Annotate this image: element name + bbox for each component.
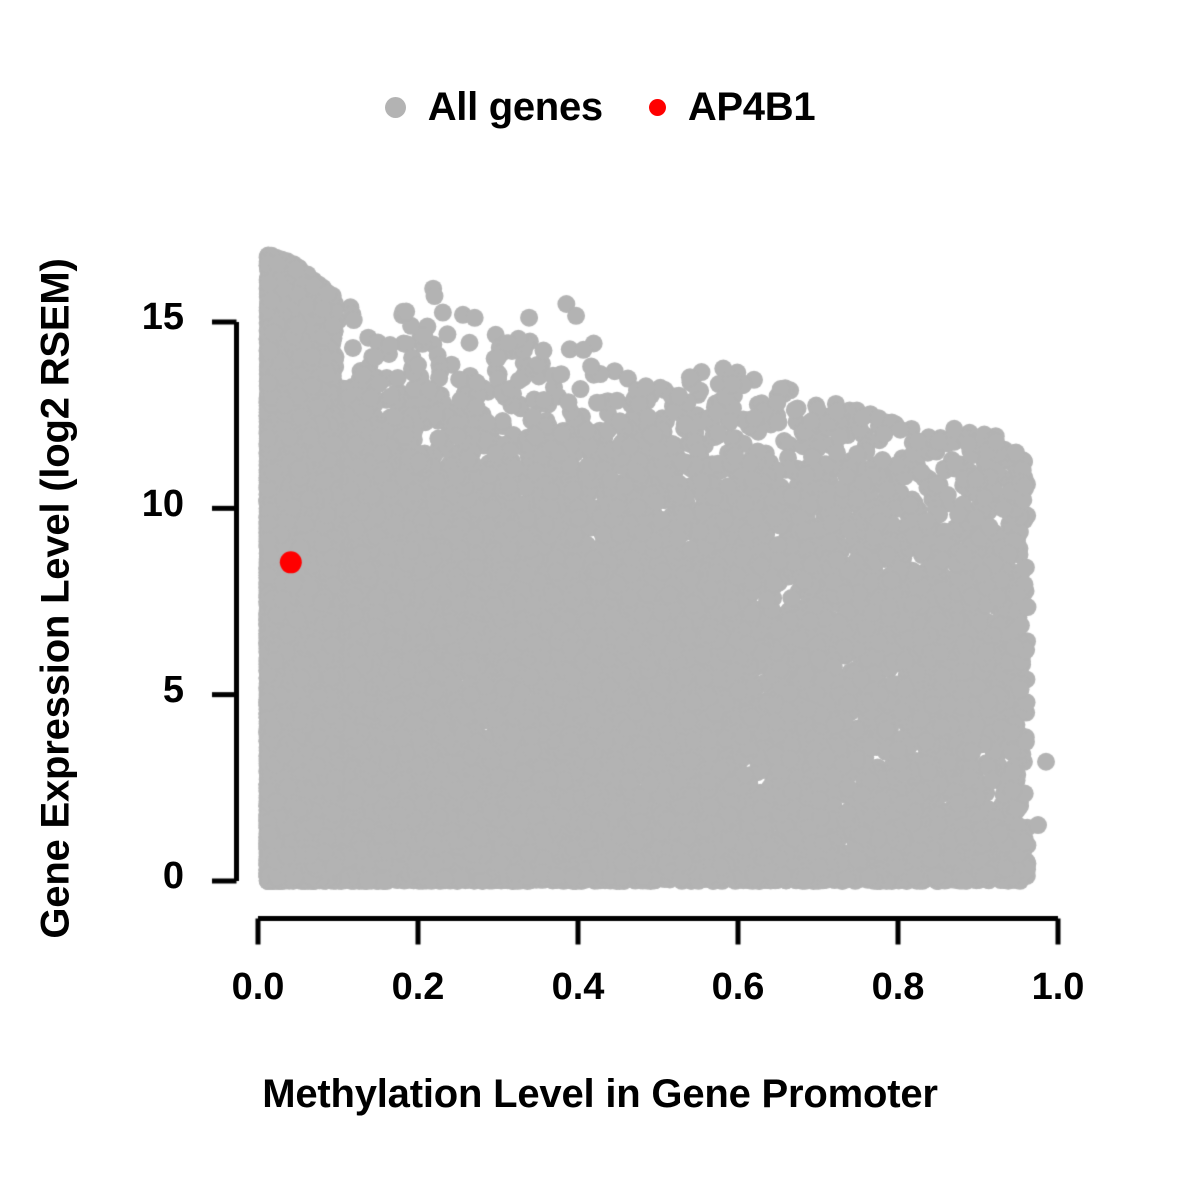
scatter-plot-figure: All genes AP4B1 0.0 0.2 0.4 0.6 0.8 1.0 … xyxy=(0,0,1200,1200)
legend-label-all-genes: All genes xyxy=(428,85,603,130)
chart-legend: All genes AP4B1 xyxy=(0,78,1200,136)
x-axis-label: Methylation Level in Gene Promoter xyxy=(0,1072,1200,1117)
y-tick-label-2: 10 xyxy=(0,483,200,526)
y-axis-label: Gene Expression Level (log2 RSEM) xyxy=(34,199,79,999)
x-tick-label-3: 0.6 xyxy=(678,966,798,1009)
x-tick-label-2: 0.4 xyxy=(518,966,638,1009)
x-tick-label-0: 0.0 xyxy=(198,966,318,1009)
y-tick-label-1: 5 xyxy=(0,669,200,712)
x-tick-label-1: 0.2 xyxy=(358,966,478,1009)
y-tick-label-0: 0 xyxy=(0,855,200,898)
legend-item-ap4b1[interactable]: AP4B1 xyxy=(649,85,815,130)
scatter-plot-canvas xyxy=(0,0,1200,1200)
y-tick-label-3: 15 xyxy=(0,296,200,339)
x-tick-label-5: 1.0 xyxy=(998,966,1118,1009)
legend-item-all-genes[interactable]: All genes xyxy=(385,85,603,130)
red-dot-icon xyxy=(649,99,666,116)
legend-label-ap4b1: AP4B1 xyxy=(688,85,815,130)
x-tick-label-4: 0.8 xyxy=(838,966,958,1009)
gray-dot-icon xyxy=(385,97,406,118)
